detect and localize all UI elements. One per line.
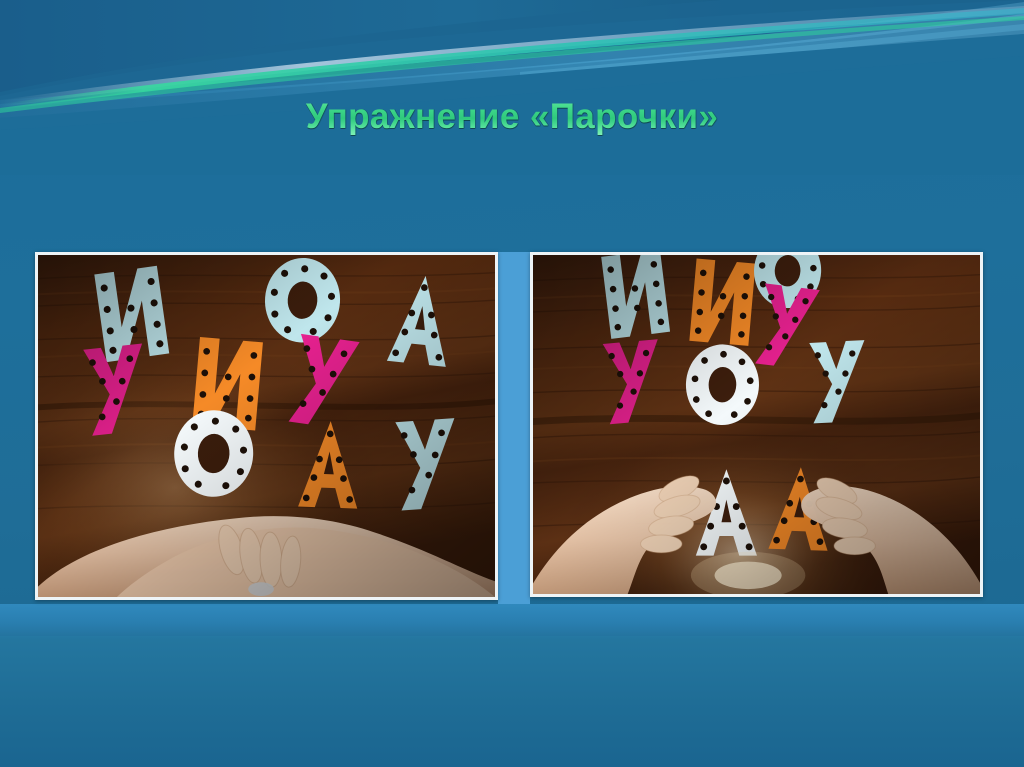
slide-canvas: Упражнение «Парочки» [0, 0, 1024, 767]
photo-right-scene [533, 255, 980, 594]
wave-svg [0, 0, 1024, 175]
header-wave-decoration [0, 0, 1024, 175]
photo-right[interactable] [530, 252, 983, 597]
page-title: Упражнение «Парочки» [306, 98, 718, 135]
lower-highlight-band [0, 604, 1024, 636]
title-container: Упражнение «Парочки» [0, 98, 1024, 135]
photo-left-scene [38, 255, 495, 597]
photo-left[interactable] [35, 252, 498, 600]
photo-row [0, 252, 1024, 604]
photo-left-canvas [38, 255, 495, 597]
photo-right-canvas [533, 255, 980, 594]
